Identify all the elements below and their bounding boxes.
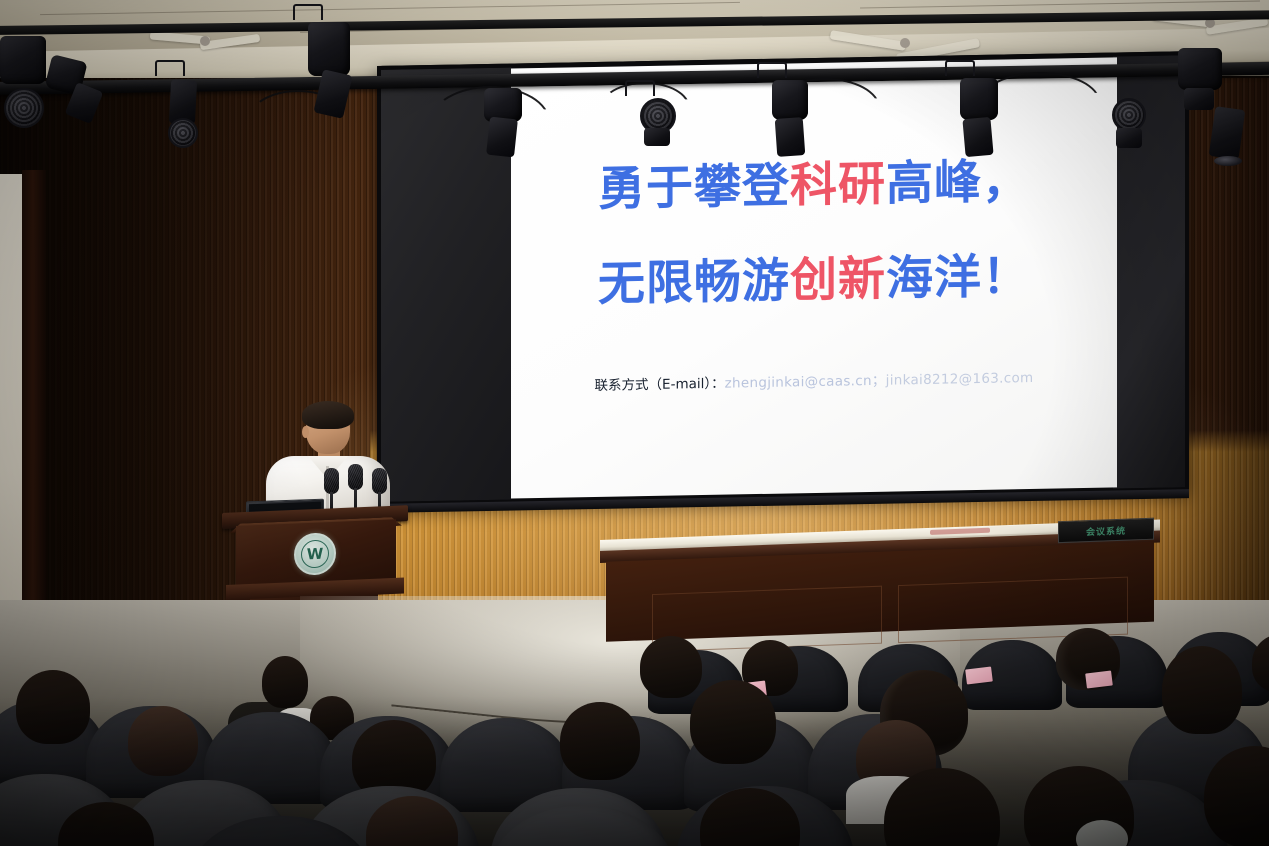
audience-head xyxy=(640,636,702,698)
audience-head xyxy=(262,656,308,708)
audience-head xyxy=(1162,646,1242,734)
seat-name-card xyxy=(1085,670,1113,688)
audience-head xyxy=(128,706,198,776)
audience-head xyxy=(690,680,776,764)
speaker-ear xyxy=(302,426,309,438)
contact-email-2: jinkai8212@163.com xyxy=(886,370,1034,389)
presentation-slide: 勇于攀登科研高峰， 无限畅游创新海洋！ 联系方式（E-mail）：zhengji… xyxy=(511,57,1117,498)
contact-email-1: zhengjinkai@caas.cn； xyxy=(725,372,886,391)
seat-name-card xyxy=(965,666,993,684)
slide-line2-highlight: 创新 xyxy=(790,252,886,309)
emblem-letter: W xyxy=(301,539,329,568)
slide-line2-prefix: 无限畅游 xyxy=(598,254,790,313)
slide-surface: 勇于攀登科研高峰， 无限畅游创新海洋！ 联系方式（E-mail）：zhengji… xyxy=(511,57,1117,498)
slide-line1-prefix: 勇于攀登 xyxy=(598,158,790,217)
slide-contact-line: 联系方式（E-mail）：zhengjinkai@caas.cn；jinkai8… xyxy=(529,364,1099,394)
auditorium-photo: 勇于攀登科研高峰， 无限畅游创新海洋！ 联系方式（E-mail）：zhengji… xyxy=(0,0,1269,846)
audience-seating xyxy=(0,620,1269,846)
audience-head xyxy=(16,670,90,744)
slide-line2-suffix: 海洋！ xyxy=(886,249,1030,307)
slide-headline-line-2: 无限畅游创新海洋！ xyxy=(529,251,1099,311)
speaker-hair xyxy=(302,401,354,429)
desk-nameplate: 会议系统 xyxy=(1058,518,1154,544)
slide-headline-line-1: 勇于攀登科研高峰， xyxy=(529,156,1099,216)
slide-line1-highlight: 科研 xyxy=(790,157,886,214)
audience-head xyxy=(560,702,640,780)
contact-label: 联系方式（E-mail）： xyxy=(595,375,725,393)
slide-line1-suffix: 高峰， xyxy=(886,154,1030,212)
